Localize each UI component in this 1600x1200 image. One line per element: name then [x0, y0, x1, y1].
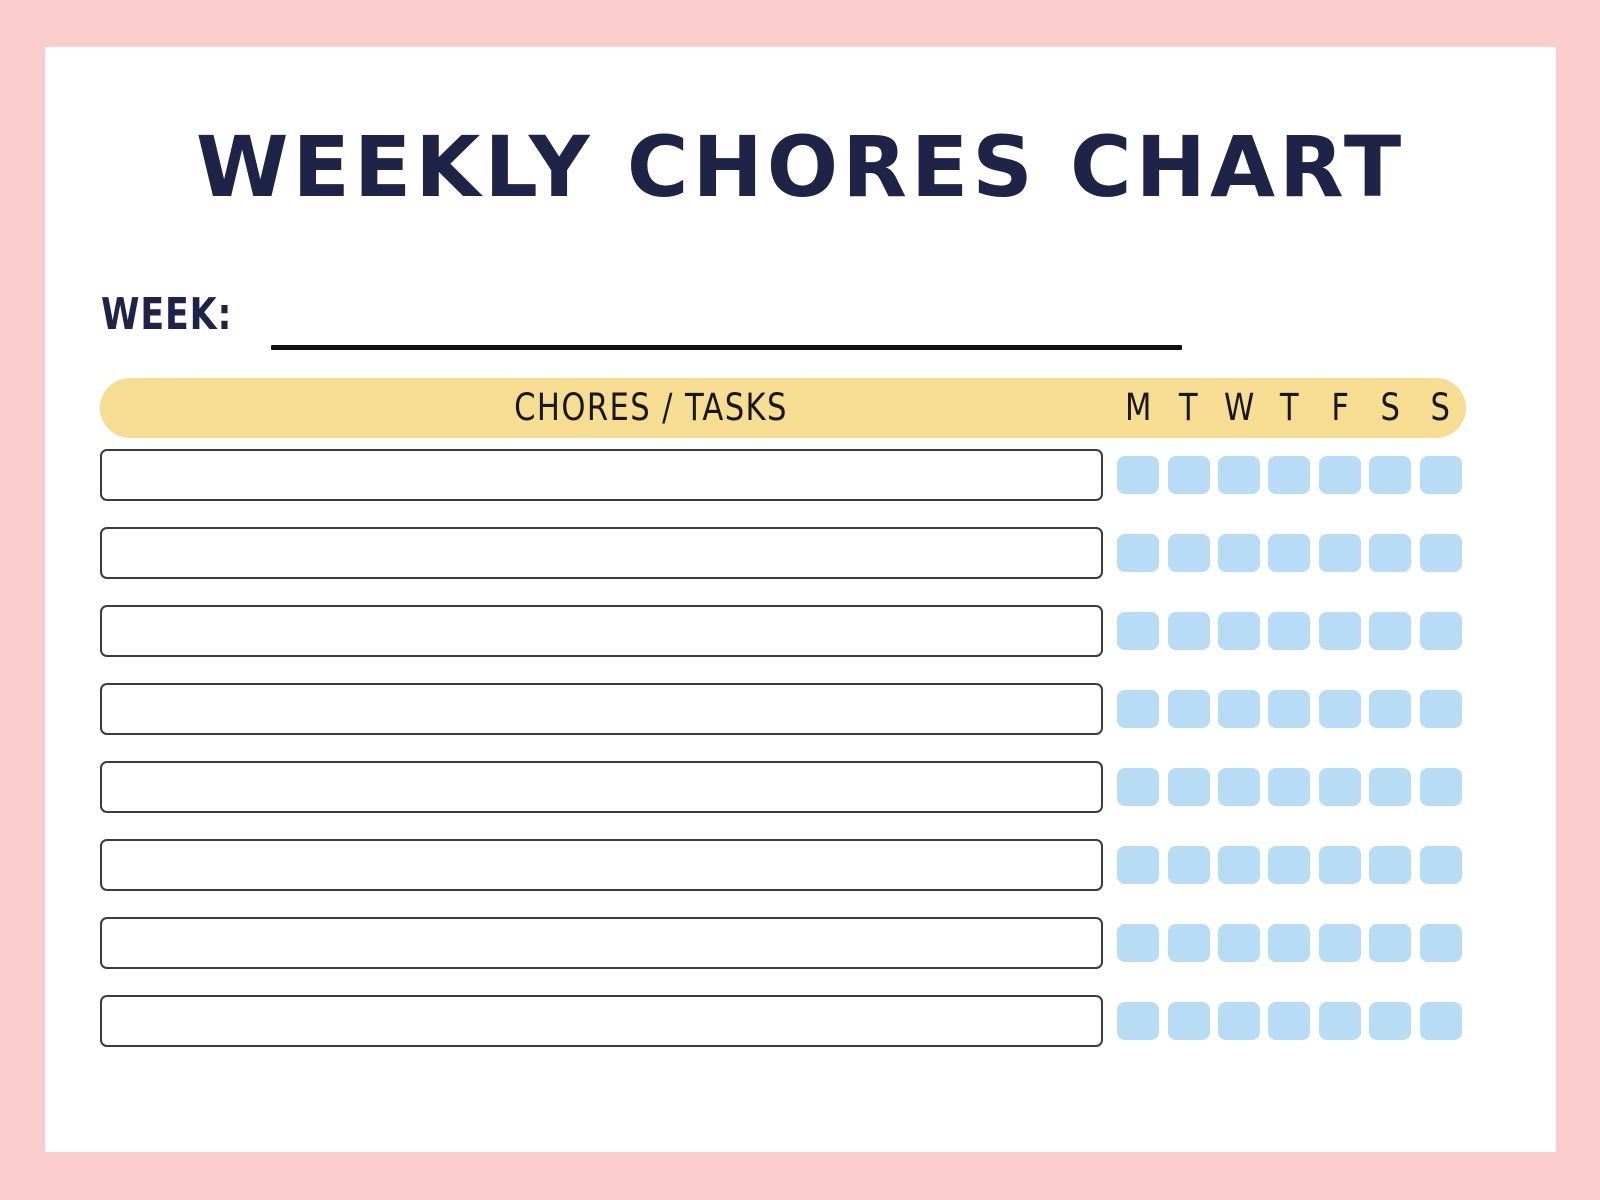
checkbox-cell	[1315, 1002, 1365, 1040]
checkbox[interactable]	[1268, 1002, 1310, 1040]
checkbox-cell	[1315, 690, 1365, 728]
checkbox-cell	[1315, 456, 1365, 494]
checkbox[interactable]	[1369, 612, 1411, 650]
task-input[interactable]	[100, 449, 1103, 501]
checkbox-cell	[1365, 456, 1415, 494]
checkbox[interactable]	[1117, 612, 1159, 650]
checkbox[interactable]	[1268, 534, 1310, 572]
checkbox[interactable]	[1420, 534, 1462, 572]
day-header-saturday: S	[1367, 378, 1413, 438]
checkbox-cell	[1415, 768, 1465, 806]
checkbox[interactable]	[1319, 768, 1361, 806]
checkbox[interactable]	[1319, 1002, 1361, 1040]
checkbox-group	[1113, 995, 1466, 1047]
task-input[interactable]	[100, 995, 1103, 1047]
checkbox-cell	[1365, 846, 1415, 884]
checkbox-cell	[1214, 690, 1264, 728]
checkbox-cell	[1415, 456, 1465, 494]
checkbox-cell	[1365, 534, 1415, 572]
checkbox[interactable]	[1369, 456, 1411, 494]
checkbox[interactable]	[1117, 924, 1159, 962]
checkbox-cell	[1264, 1002, 1314, 1040]
page-frame: WEEKLY CHORES CHART WEEK: CHORES / TASKS…	[0, 0, 1600, 1200]
chore-rows	[100, 449, 1466, 1047]
checkbox[interactable]	[1168, 846, 1210, 884]
checkbox-cell	[1163, 768, 1213, 806]
checkbox[interactable]	[1319, 924, 1361, 962]
checkbox-cell	[1214, 534, 1264, 572]
checkbox[interactable]	[1319, 690, 1361, 728]
checkbox-cell	[1113, 534, 1163, 572]
checkbox[interactable]	[1168, 1002, 1210, 1040]
checkbox[interactable]	[1420, 456, 1462, 494]
table-header-bar: CHORES / TASKS M T W T F S S	[100, 378, 1466, 438]
checkbox-cell	[1365, 924, 1415, 962]
checkbox-group	[1113, 839, 1466, 891]
task-input[interactable]	[100, 917, 1103, 969]
task-input[interactable]	[100, 683, 1103, 735]
day-headers: M T W T F S S	[1113, 378, 1466, 438]
checkbox[interactable]	[1268, 924, 1310, 962]
checkbox-cell	[1214, 1002, 1264, 1040]
checkbox-cell	[1415, 534, 1465, 572]
checkbox-cell	[1163, 1002, 1213, 1040]
checkbox[interactable]	[1268, 456, 1310, 494]
checkbox[interactable]	[1420, 1002, 1462, 1040]
checkbox-cell	[1264, 924, 1314, 962]
checkbox[interactable]	[1319, 534, 1361, 572]
checkbox[interactable]	[1218, 534, 1260, 572]
table-row	[100, 683, 1466, 735]
checkbox[interactable]	[1117, 1002, 1159, 1040]
week-label: WEEK:	[101, 290, 232, 340]
checkbox-cell	[1163, 690, 1213, 728]
table-row	[100, 917, 1466, 969]
checkbox[interactable]	[1218, 768, 1260, 806]
chart-sheet: WEEKLY CHORES CHART WEEK: CHORES / TASKS…	[45, 47, 1556, 1152]
checkbox[interactable]	[1268, 690, 1310, 728]
checkbox-cell	[1315, 534, 1365, 572]
checkbox-group	[1113, 449, 1466, 501]
day-header-wednesday: W	[1216, 378, 1262, 438]
checkbox-group	[1113, 683, 1466, 735]
checkbox-cell	[1365, 768, 1415, 806]
checkbox-cell	[1214, 846, 1264, 884]
task-input[interactable]	[100, 839, 1103, 891]
checkbox[interactable]	[1319, 612, 1361, 650]
checkbox[interactable]	[1218, 846, 1260, 884]
checkbox-cell	[1163, 534, 1213, 572]
checkbox[interactable]	[1218, 456, 1260, 494]
week-input-line[interactable]	[271, 345, 1182, 350]
checkbox-cell	[1415, 612, 1465, 650]
checkbox[interactable]	[1319, 846, 1361, 884]
checkbox-cell	[1113, 1002, 1163, 1040]
checkbox-cell	[1264, 612, 1314, 650]
checkbox[interactable]	[1319, 456, 1361, 494]
checkbox-group	[1113, 527, 1466, 579]
checkbox[interactable]	[1218, 924, 1260, 962]
checkbox[interactable]	[1218, 612, 1260, 650]
checkbox[interactable]	[1117, 768, 1159, 806]
day-header-thursday: T	[1266, 378, 1312, 438]
week-field: WEEK:	[101, 290, 1181, 352]
checkbox-cell	[1113, 612, 1163, 650]
checkbox-cell	[1113, 846, 1163, 884]
checkbox-cell	[1315, 768, 1365, 806]
checkbox-cell	[1264, 690, 1314, 728]
checkbox-cell	[1113, 924, 1163, 962]
checkbox[interactable]	[1268, 768, 1310, 806]
checkbox[interactable]	[1369, 924, 1411, 962]
checkbox[interactable]	[1420, 612, 1462, 650]
checkbox-cell	[1415, 924, 1465, 962]
checkbox[interactable]	[1268, 612, 1310, 650]
checkbox[interactable]	[1369, 690, 1411, 728]
checkbox[interactable]	[1420, 690, 1462, 728]
checkbox-cell	[1315, 846, 1365, 884]
checkbox-cell	[1113, 456, 1163, 494]
checkbox-cell	[1315, 924, 1365, 962]
checkbox[interactable]	[1369, 846, 1411, 884]
checkbox[interactable]	[1369, 1002, 1411, 1040]
column-header-chores: CHORES / TASKS	[389, 378, 913, 438]
checkbox-cell	[1264, 534, 1314, 572]
checkbox[interactable]	[1168, 768, 1210, 806]
checkbox[interactable]	[1420, 924, 1462, 962]
day-header-monday: M	[1115, 378, 1161, 438]
table-row	[100, 605, 1466, 657]
checkbox-cell	[1214, 456, 1264, 494]
checkbox[interactable]	[1268, 846, 1310, 884]
task-input[interactable]	[100, 605, 1103, 657]
checkbox[interactable]	[1117, 690, 1159, 728]
task-input[interactable]	[100, 527, 1103, 579]
day-header-tuesday: T	[1165, 378, 1211, 438]
checkbox-cell	[1163, 924, 1213, 962]
table-row	[100, 761, 1466, 813]
checkbox-cell	[1415, 846, 1465, 884]
checkbox-cell	[1214, 612, 1264, 650]
checkbox[interactable]	[1420, 846, 1462, 884]
checkbox[interactable]	[1117, 534, 1159, 572]
checkbox-cell	[1365, 1002, 1415, 1040]
checkbox[interactable]	[1117, 456, 1159, 494]
checkbox[interactable]	[1369, 534, 1411, 572]
checkbox[interactable]	[1218, 1002, 1260, 1040]
checkbox-cell	[1264, 846, 1314, 884]
checkbox-cell	[1365, 690, 1415, 728]
checkbox-group	[1113, 761, 1466, 813]
checkbox-cell	[1264, 456, 1314, 494]
checkbox-cell	[1214, 768, 1264, 806]
table-row	[100, 839, 1466, 891]
page-title: WEEKLY CHORES CHART	[45, 125, 1556, 209]
checkbox-group	[1113, 917, 1466, 969]
checkbox[interactable]	[1168, 690, 1210, 728]
checkbox[interactable]	[1218, 690, 1260, 728]
checkbox[interactable]	[1168, 924, 1210, 962]
checkbox[interactable]	[1168, 612, 1210, 650]
checkbox-cell	[1214, 924, 1264, 962]
checkbox-cell	[1415, 1002, 1465, 1040]
checkbox-cell	[1113, 690, 1163, 728]
checkbox-cell	[1415, 690, 1465, 728]
checkbox-cell	[1264, 768, 1314, 806]
checkbox[interactable]	[1369, 768, 1411, 806]
day-header-friday: F	[1317, 378, 1363, 438]
checkbox[interactable]	[1168, 456, 1210, 494]
checkbox-cell	[1365, 612, 1415, 650]
checkbox-group	[1113, 605, 1466, 657]
day-header-sunday: S	[1417, 378, 1463, 438]
checkbox[interactable]	[1117, 846, 1159, 884]
checkbox[interactable]	[1420, 768, 1462, 806]
checkbox-cell	[1163, 456, 1213, 494]
task-input[interactable]	[100, 761, 1103, 813]
table-row	[100, 449, 1466, 501]
checkbox-cell	[1163, 846, 1213, 884]
checkbox-cell	[1163, 612, 1213, 650]
checkbox-cell	[1315, 612, 1365, 650]
table-row	[100, 527, 1466, 579]
table-row	[100, 995, 1466, 1047]
checkbox-cell	[1113, 768, 1163, 806]
checkbox[interactable]	[1168, 534, 1210, 572]
